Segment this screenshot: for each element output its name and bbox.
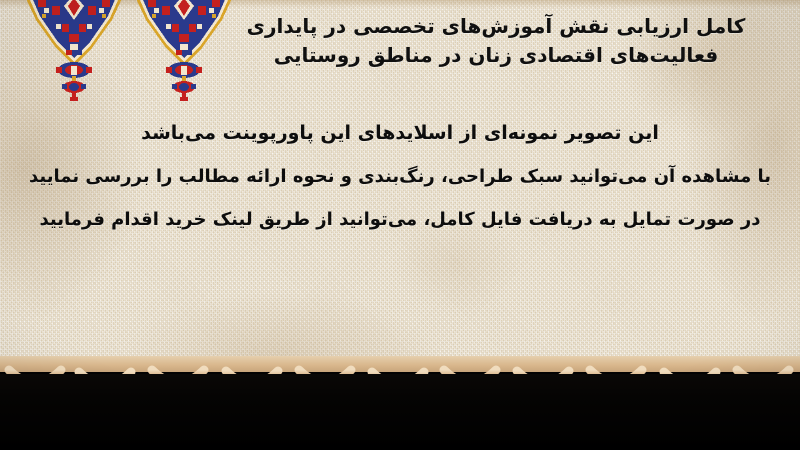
carpet-fringe [0, 356, 800, 450]
carpet-slide: کامل ارزیابی نقش آموزش‌های تخصصی در پاید… [0, 0, 800, 450]
body-line-1: این تصویر نمونه‌ای از اسلایدهای این پاور… [0, 112, 800, 155]
slide-title: کامل ارزیابی نقش آموزش‌های تخصصی در پاید… [200, 12, 792, 70]
title-line-1: کامل ارزیابی نقش آموزش‌های تخصصی در پاید… [200, 12, 792, 41]
fringe-dark-backdrop [0, 374, 800, 450]
body-line-3: در صورت تمایل به دریافت فایل کامل، می‌تو… [0, 198, 800, 241]
slide-body: این تصویر نمونه‌ای از اسلایدهای این پاور… [0, 112, 800, 241]
title-line-2: فعالیت‌های اقتصادی زنان در مناطق روستایی [200, 41, 792, 70]
body-line-2: با مشاهده آن می‌توانید سبک طراحی، رنگ‌بن… [0, 155, 800, 198]
